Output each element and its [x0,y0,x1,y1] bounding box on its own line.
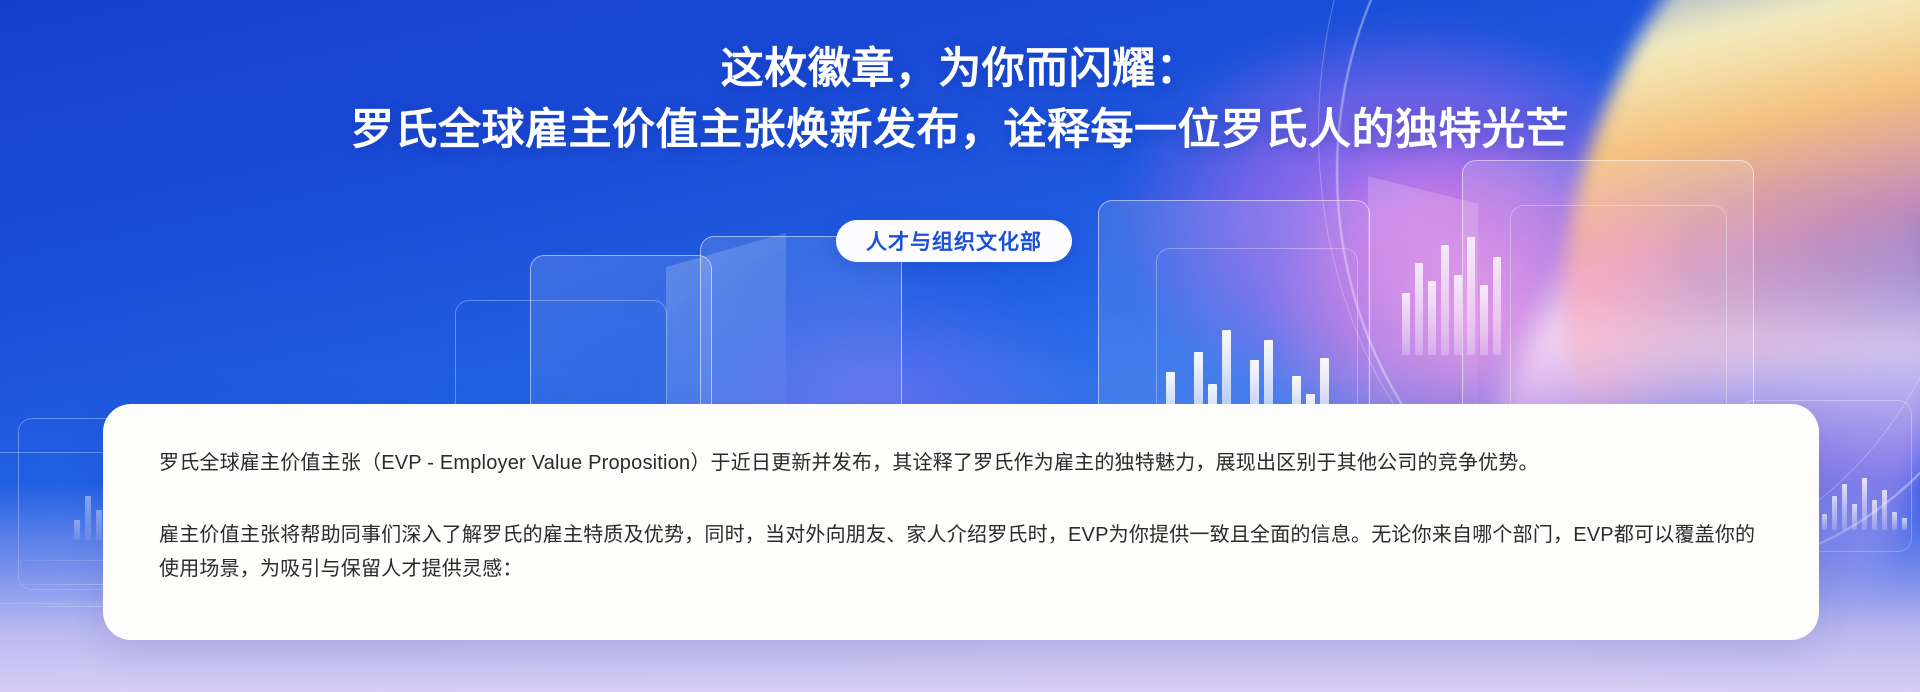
card-paragraph-2: 雇主价值主张将帮助同事们深入了解罗氏的雇主特质及优势，同时，当对外向朋友、家人介… [159,518,1763,586]
badge-label: 人才与组织文化部 [866,226,1042,256]
bar-chart-motif-right [1402,235,1501,355]
content-card: 罗氏全球雇主价值主张（EVP - Employer Value Proposit… [103,404,1819,640]
banner-stage: 这枚徽章，为你而闪耀： 罗氏全球雇主价值主张焕新发布，诠释每一位罗氏人的独特光芒… [0,0,1920,692]
headline-line-1: 这枚徽章，为你而闪耀： [0,42,1920,96]
status-badge[interactable]: 人才与组织文化部 [836,220,1072,262]
page-title: 这枚徽章，为你而闪耀： 罗氏全球雇主价值主张焕新发布，诠释每一位罗氏人的独特光芒 [0,42,1920,158]
headline-line-2: 罗氏全球雇主价值主张焕新发布，诠释每一位罗氏人的独特光芒 [0,102,1920,158]
card-paragraph-1: 罗氏全球雇主价值主张（EVP - Employer Value Proposit… [159,446,1763,480]
